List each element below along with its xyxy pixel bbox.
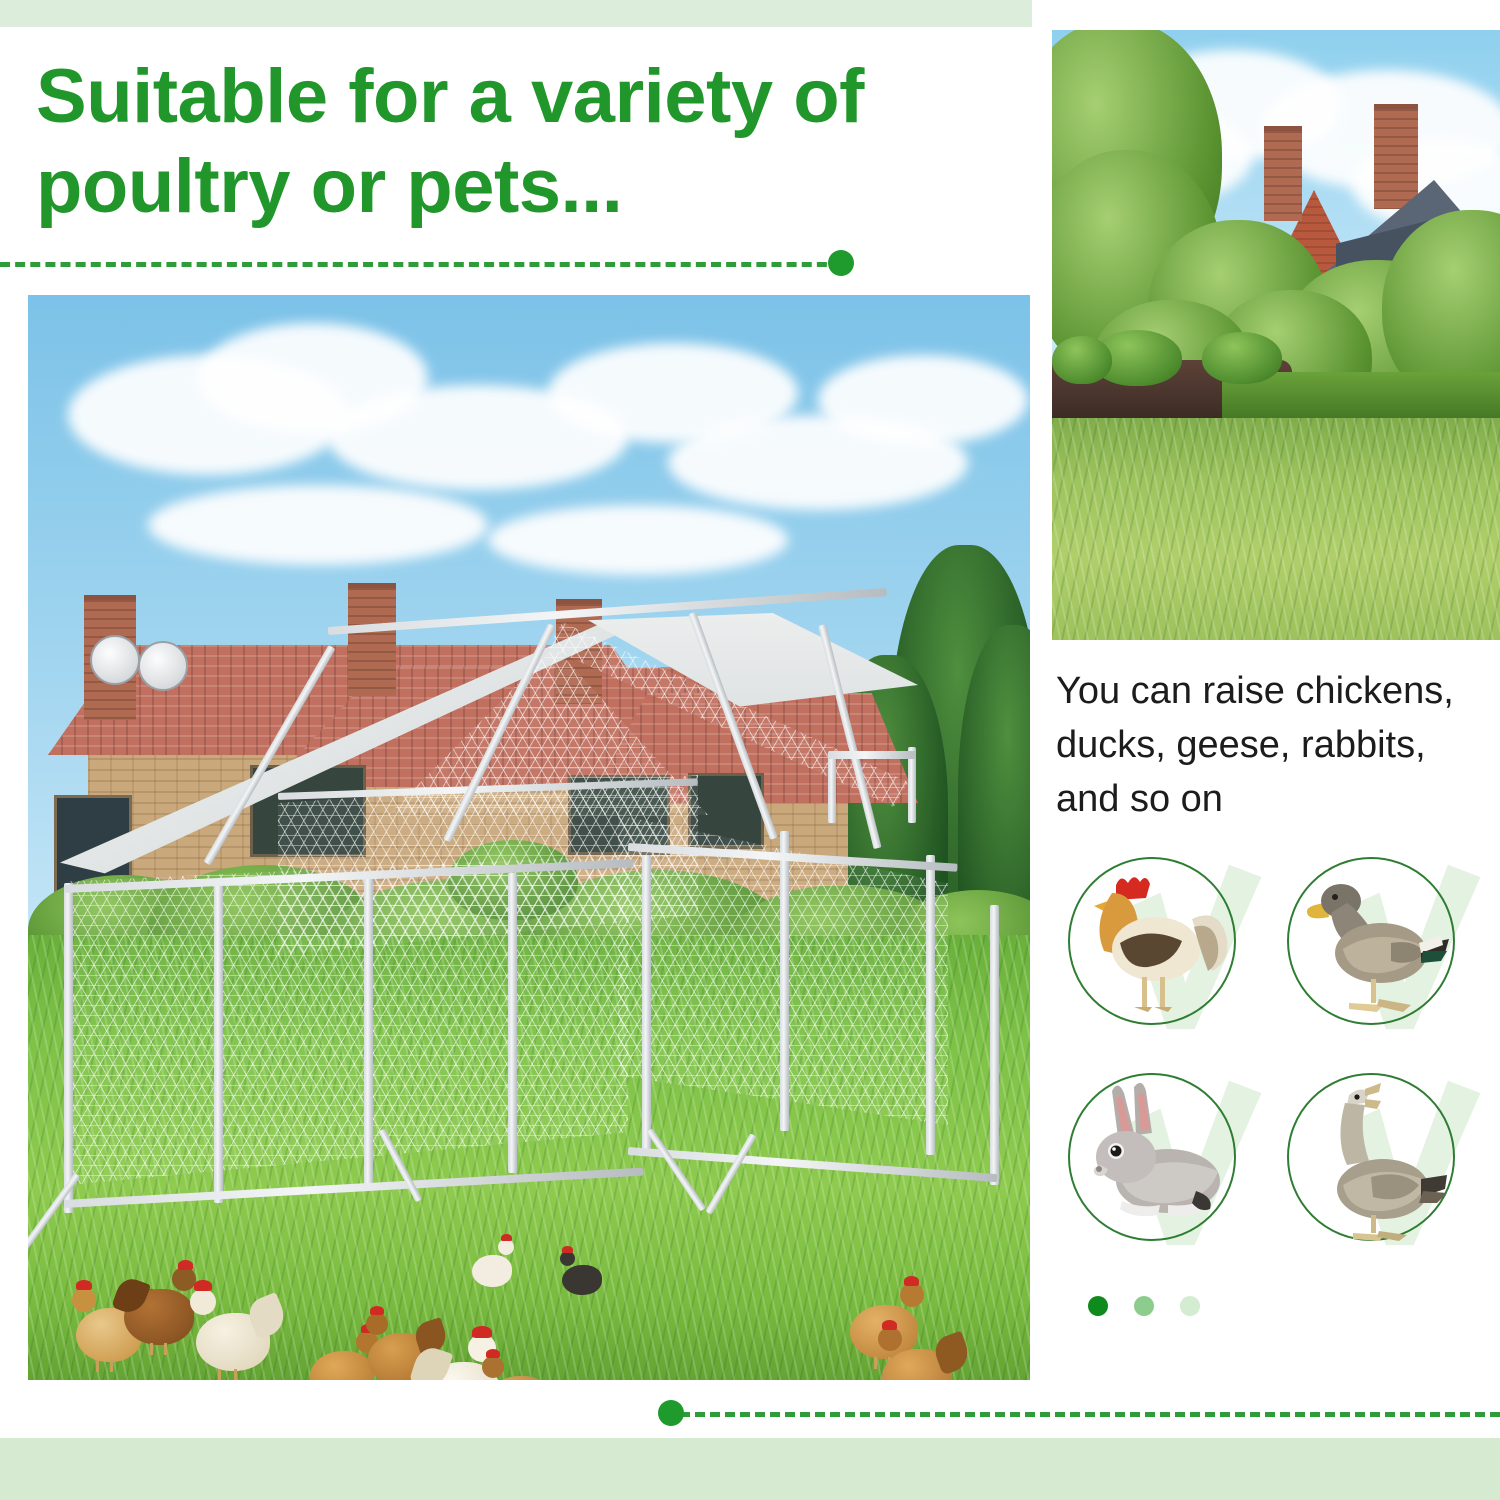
bottom-accent-band [0, 1438, 1500, 1500]
page-title-line-2: poultry or pets... [36, 142, 976, 232]
coop-post [214, 883, 223, 1203]
pagination-dots[interactable] [1088, 1296, 1200, 1316]
footer-rule-dot [658, 1400, 684, 1426]
bush [1202, 332, 1282, 384]
coop-post [642, 855, 651, 1155]
caption-line-1: You can raise chickens, [1056, 665, 1476, 719]
chicken [558, 1247, 612, 1305]
chicken-coop-structure [28, 295, 1030, 1380]
pagination-dot-3[interactable] [1180, 1296, 1200, 1316]
lawn [1052, 418, 1500, 640]
page-title-line-1: Suitable for a variety of [36, 52, 976, 142]
headline-rule-dot [828, 250, 854, 276]
rabbit-badge[interactable] [1062, 1061, 1261, 1265]
coop-door-frame [828, 753, 836, 823]
coop-door-header [828, 751, 916, 759]
yard-photo [1052, 30, 1500, 640]
coop-post [990, 905, 999, 1185]
chimney [1374, 104, 1418, 209]
pagination-dot-2[interactable] [1134, 1296, 1154, 1316]
chicken [480, 1350, 568, 1380]
chicken [188, 1283, 286, 1380]
bush [1052, 336, 1112, 384]
chimney [1264, 126, 1302, 221]
caption-line-3: and so on [1056, 773, 1476, 827]
coop-post [780, 831, 789, 1131]
chicken [468, 1237, 524, 1297]
top-accent-band [0, 0, 1032, 27]
goose-icon [1287, 1073, 1455, 1241]
caption-line-2: ducks, geese, rabbits, [1056, 719, 1476, 773]
chicken [876, 1321, 970, 1380]
yard-photo-caption: You can raise chickens, ducks, geese, ra… [1056, 665, 1476, 827]
page-title: Suitable for a variety of poultry or pet… [36, 52, 976, 231]
chicken-badge[interactable] [1062, 845, 1261, 1049]
headline-dashed-rule [0, 262, 842, 267]
goose-badge[interactable] [1281, 1061, 1480, 1265]
coop-brace [705, 1133, 756, 1214]
coop-post [926, 855, 935, 1155]
coop-brace [647, 1128, 706, 1212]
footer-dashed-rule [680, 1412, 1500, 1417]
coop-post [364, 877, 373, 1187]
duck-badge[interactable] [1281, 845, 1480, 1049]
main-product-photo [28, 295, 1030, 1380]
coop-post [508, 873, 517, 1173]
duck-icon [1287, 857, 1455, 1025]
suitable-animals-grid [1062, 845, 1480, 1265]
rooster-icon [1068, 857, 1236, 1025]
pagination-dot-1[interactable] [1088, 1296, 1108, 1316]
rabbit-icon [1068, 1073, 1236, 1241]
coop-post [64, 883, 73, 1213]
